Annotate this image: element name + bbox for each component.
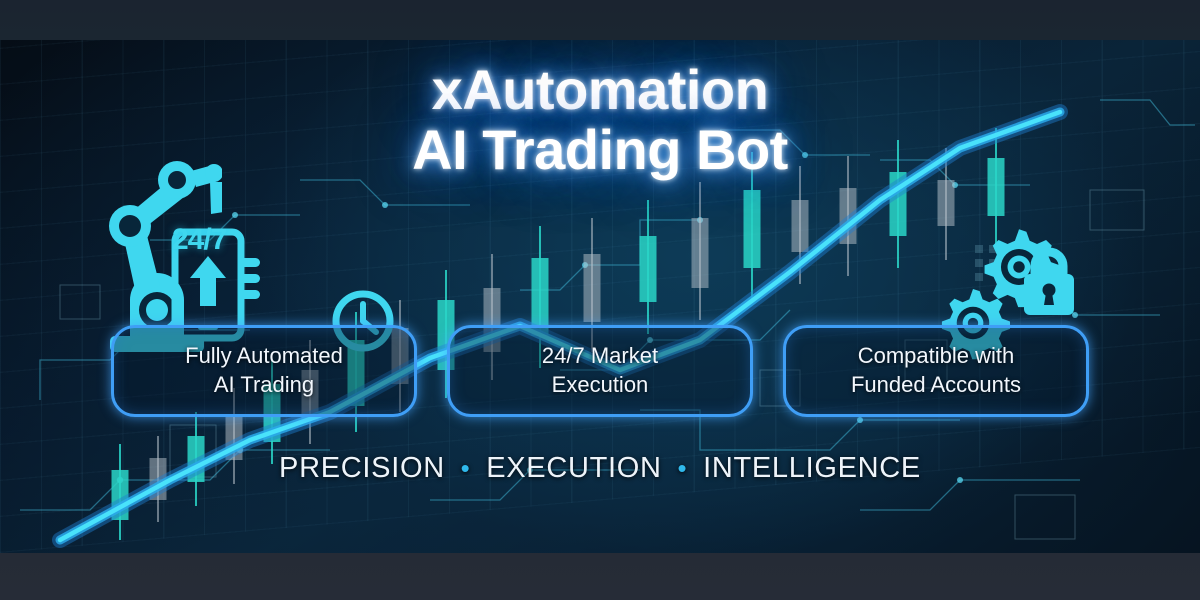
badge-247: 24/7	[172, 223, 226, 257]
feature-pill-label: 24/7 MarketExecution	[542, 342, 658, 399]
page-title: xAutomation AI Trading Bot	[0, 60, 1200, 181]
pill-line-2: Execution	[552, 372, 649, 397]
feature-pill-funded-accounts[interactable]: Compatible withFunded Accounts	[783, 325, 1089, 417]
pill-line-1: Compatible with	[858, 343, 1015, 368]
feature-pill-label: Compatible withFunded Accounts	[851, 342, 1021, 399]
pill-line-1: 24/7 Market	[542, 343, 658, 368]
tagline-separator-dot: •	[677, 453, 687, 483]
feature-pill-list: Fully AutomatedAI Trading 24/7 MarketExe…	[0, 325, 1200, 417]
feature-pill-fully-automated[interactable]: Fully AutomatedAI Trading	[111, 325, 417, 417]
tagline-word-precision: PRECISION	[272, 452, 452, 485]
tagline-word-intelligence: INTELLIGENCE	[696, 452, 928, 485]
feature-pill-market-execution[interactable]: 24/7 MarketExecution	[447, 325, 753, 417]
top-letterbox-band	[0, 0, 1200, 40]
tagline-word-execution: EXECUTION	[479, 452, 669, 485]
feature-pill-label: Fully AutomatedAI Trading	[185, 342, 343, 399]
tagline: PRECISION • EXECUTION • INTELLIGENCE	[0, 452, 1200, 485]
tagline-separator-dot: •	[461, 453, 471, 483]
lock-icon	[1020, 245, 1078, 317]
pill-line-1: Fully Automated	[185, 343, 343, 368]
bottom-letterbox-band	[0, 553, 1200, 600]
headline-line-1: xAutomation	[0, 60, 1200, 120]
pill-line-2: Funded Accounts	[851, 372, 1021, 397]
pill-line-2: AI Trading	[214, 372, 314, 397]
headline-line-2: AI Trading Bot	[0, 120, 1200, 180]
promo-banner: 24/7	[0, 0, 1200, 600]
